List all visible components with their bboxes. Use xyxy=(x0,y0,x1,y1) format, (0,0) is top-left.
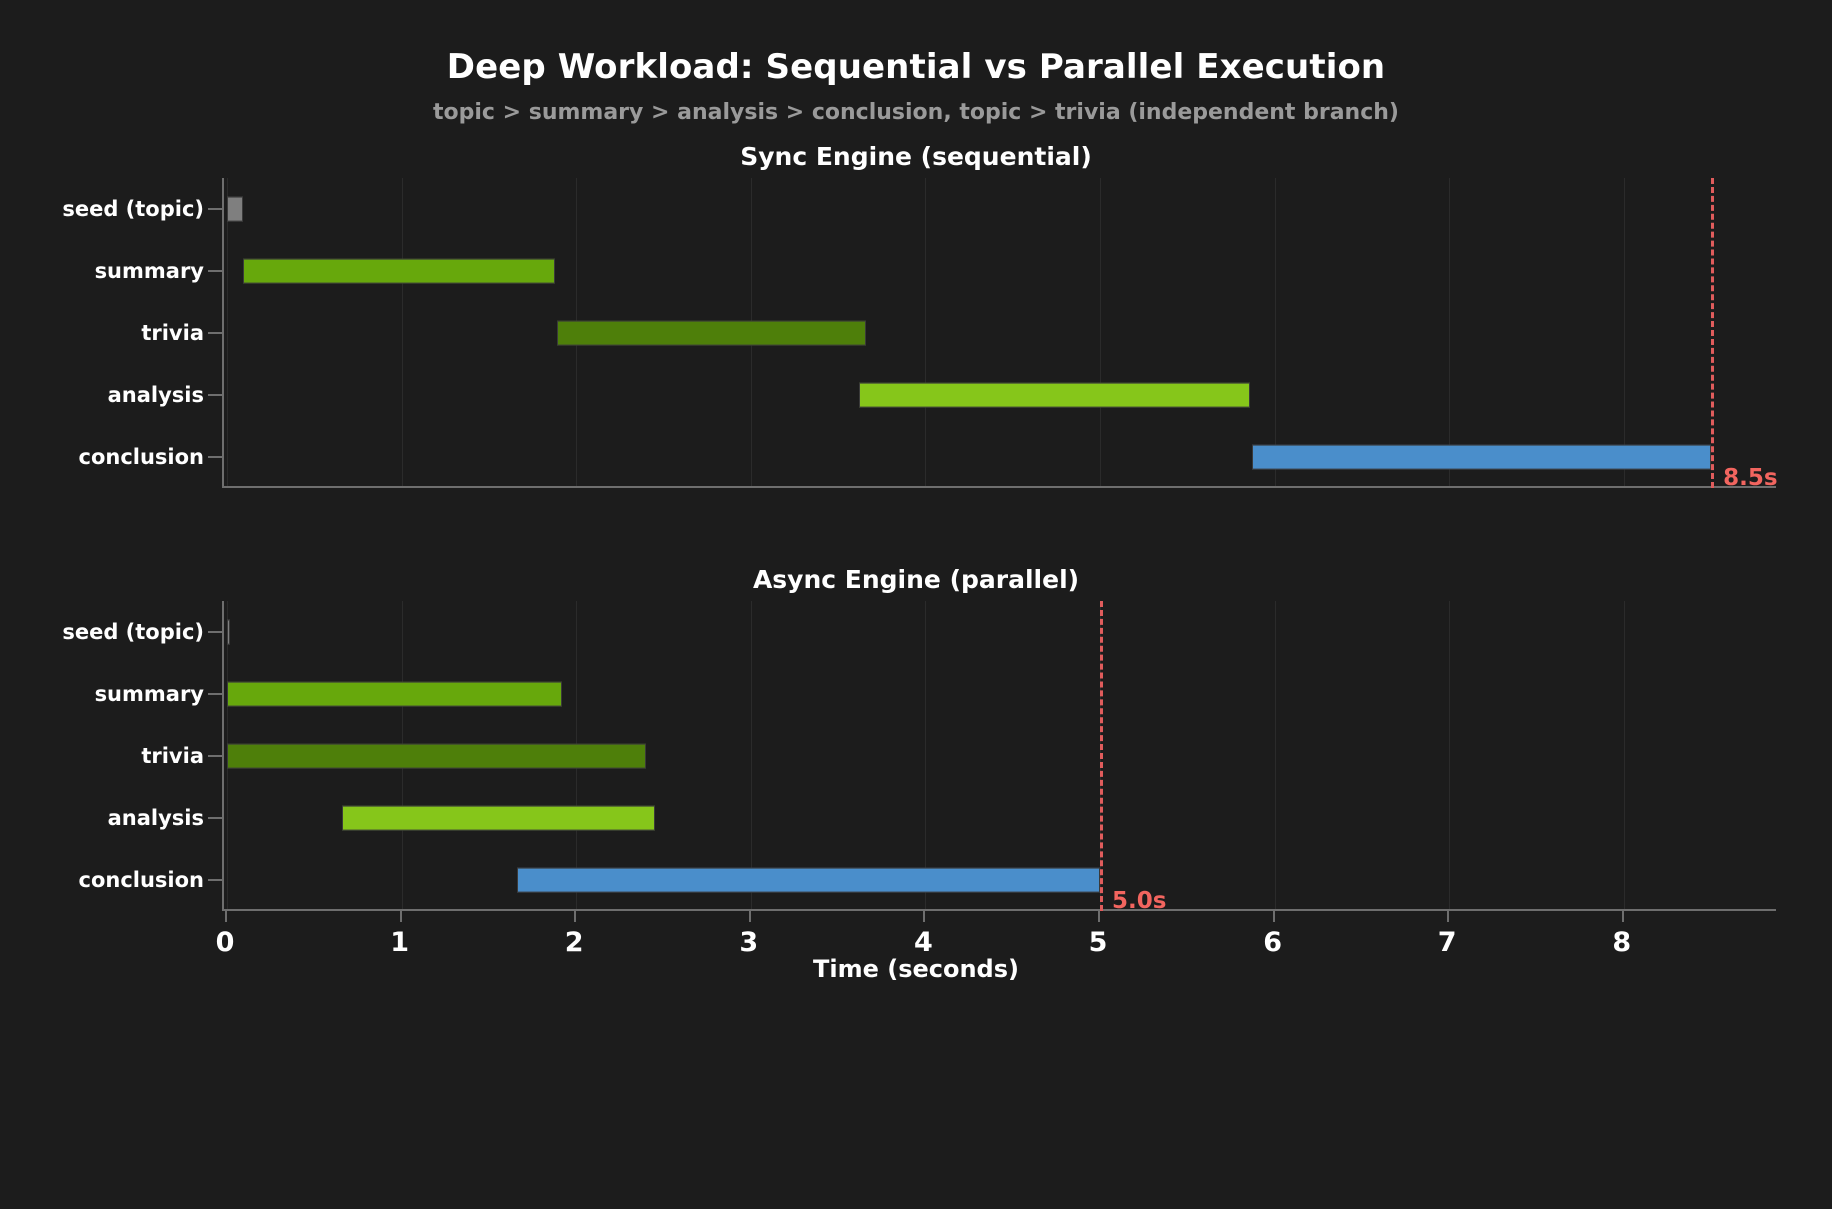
gantt-bar-conclusion[interactable] xyxy=(1252,445,1711,470)
gridline xyxy=(1449,178,1450,486)
completion-marker-line xyxy=(1711,178,1714,488)
x-tick-mark xyxy=(749,911,751,922)
x-tick-mark xyxy=(923,911,925,922)
y-axis-label: conclusion xyxy=(79,868,223,892)
gantt-bar-summary[interactable] xyxy=(243,259,556,284)
gantt-bar-conclusion[interactable] xyxy=(517,868,1100,893)
y-axis-label: trivia xyxy=(141,744,222,768)
x-axis-tick-label: 3 xyxy=(739,927,758,958)
x-axis-tick-label: 7 xyxy=(1438,927,1457,958)
x-axis-tick-label: 5 xyxy=(1089,927,1108,958)
x-tick-mark xyxy=(1098,911,1100,922)
gantt-bar-trivia[interactable] xyxy=(227,744,646,769)
page-title: Deep Workload: Sequential vs Parallel Ex… xyxy=(0,47,1832,87)
gridline xyxy=(227,178,228,486)
x-tick-mark xyxy=(1622,911,1624,922)
gridline xyxy=(925,601,926,909)
panel-sync-title: Sync Engine (sequential) xyxy=(0,142,1832,171)
gantt-bar-trivia[interactable] xyxy=(557,321,866,346)
x-axis-tick-label: 4 xyxy=(914,927,933,958)
y-axis-label: summary xyxy=(95,682,222,706)
x-tick-mark xyxy=(1447,911,1449,922)
x-tick-mark xyxy=(225,911,227,922)
completion-marker-label: 5.0s xyxy=(1112,888,1166,914)
gridline xyxy=(1624,178,1625,486)
gantt-bar-analysis[interactable] xyxy=(859,383,1250,408)
y-axis-label: analysis xyxy=(108,383,222,407)
x-axis-tick-label: 6 xyxy=(1263,927,1282,958)
x-tick-mark xyxy=(400,911,402,922)
gantt-bar-summary[interactable] xyxy=(227,682,562,707)
gridline xyxy=(1449,601,1450,909)
y-axis-label: seed (topic) xyxy=(62,197,222,221)
gantt-bar-seed--topic-[interactable] xyxy=(227,620,230,645)
x-axis-title: Time (seconds) xyxy=(0,955,1832,983)
gantt-bar-seed--topic-[interactable] xyxy=(227,197,243,222)
x-tick-mark xyxy=(1273,911,1275,922)
gridline xyxy=(1624,601,1625,909)
gridline xyxy=(1100,178,1101,486)
gantt-bar-analysis[interactable] xyxy=(342,806,655,831)
figure-subtitle: topic > summary > analysis > conclusion,… xyxy=(0,100,1832,125)
y-axis-label: analysis xyxy=(108,806,222,830)
y-axis-label: conclusion xyxy=(79,445,223,469)
x-axis-tick-label: 0 xyxy=(216,927,235,958)
x-axis-tick-label: 2 xyxy=(565,927,584,958)
x-tick-mark xyxy=(574,911,576,922)
plot-area-async xyxy=(222,601,1776,911)
plot-area-sync xyxy=(222,178,1776,488)
completion-marker-line xyxy=(1100,601,1103,911)
y-axis-label: summary xyxy=(95,259,222,283)
x-axis-tick-label: 8 xyxy=(1612,927,1631,958)
gridline xyxy=(925,178,926,486)
gridline xyxy=(1275,601,1276,909)
y-axis-label: seed (topic) xyxy=(62,620,222,644)
completion-marker-label: 8.5s xyxy=(1723,465,1777,491)
panel-async-title: Async Engine (parallel) xyxy=(0,565,1832,594)
y-axis-label: trivia xyxy=(141,321,222,345)
figure-canvas: Deep Workload: Sequential vs Parallel Ex… xyxy=(0,0,1832,1209)
gridline xyxy=(1275,178,1276,486)
gridline xyxy=(751,601,752,909)
gridline xyxy=(402,178,403,486)
x-axis-tick-label: 1 xyxy=(390,927,409,958)
